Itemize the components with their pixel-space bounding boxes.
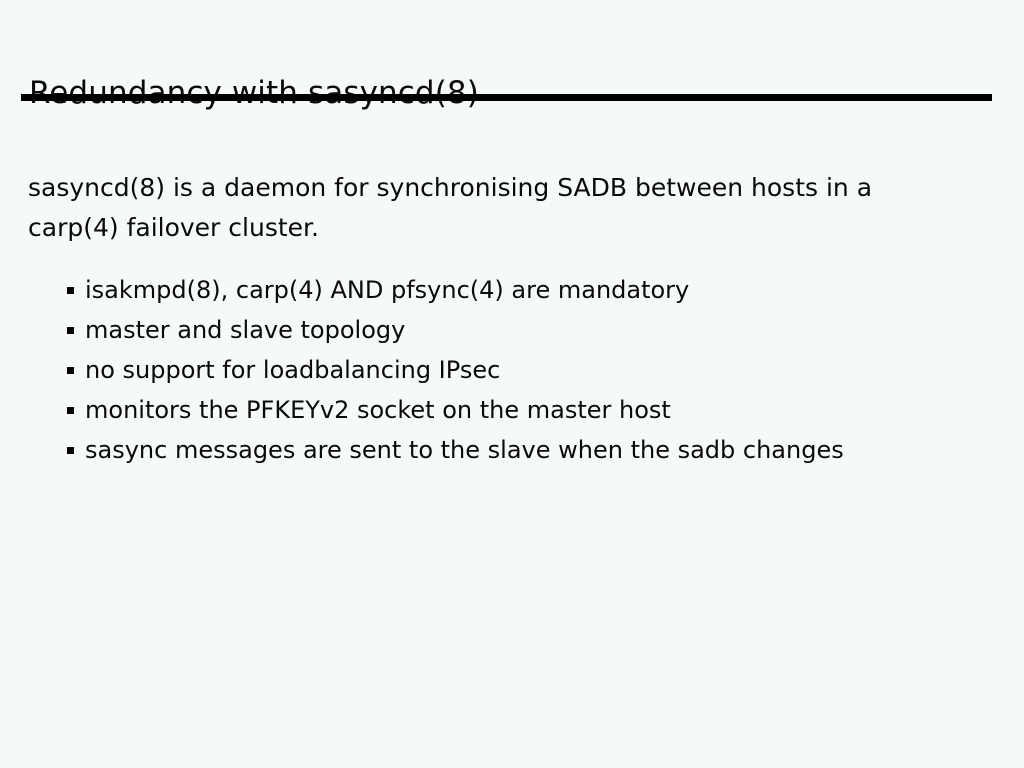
page-title: Redundancy with sasyncd(8) (29, 73, 479, 113)
list-item-label: no support for loadbalancing IPsec (85, 350, 875, 390)
list-item: monitors the PFKEYv2 socket on the maste… (67, 390, 967, 430)
title-underline-rule (21, 94, 992, 101)
bullet-list: isakmpd(8), carp(4) AND pfsync(4) are ma… (67, 270, 967, 470)
square-bullet-icon (67, 407, 74, 414)
list-item-label: monitors the PFKEYv2 socket on the maste… (85, 390, 875, 430)
intro-paragraph: sasyncd(8) is a daemon for synchronising… (28, 168, 968, 248)
list-item: master and slave topology (67, 310, 967, 350)
square-bullet-icon (67, 367, 74, 374)
list-item: isakmpd(8), carp(4) AND pfsync(4) are ma… (67, 270, 967, 310)
list-item: no support for loadbalancing IPsec (67, 350, 967, 390)
square-bullet-icon (67, 287, 74, 294)
square-bullet-icon (67, 447, 74, 454)
list-item-label: master and slave topology (85, 310, 875, 350)
list-item-label: isakmpd(8), carp(4) AND pfsync(4) are ma… (85, 270, 875, 310)
presentation-slide: Redundancy with sasyncd(8) sasyncd(8) is… (0, 0, 1024, 768)
square-bullet-icon (67, 327, 74, 334)
list-item-label: sasync messages are sent to the slave wh… (85, 430, 875, 470)
list-item: sasync messages are sent to the slave wh… (67, 430, 967, 470)
